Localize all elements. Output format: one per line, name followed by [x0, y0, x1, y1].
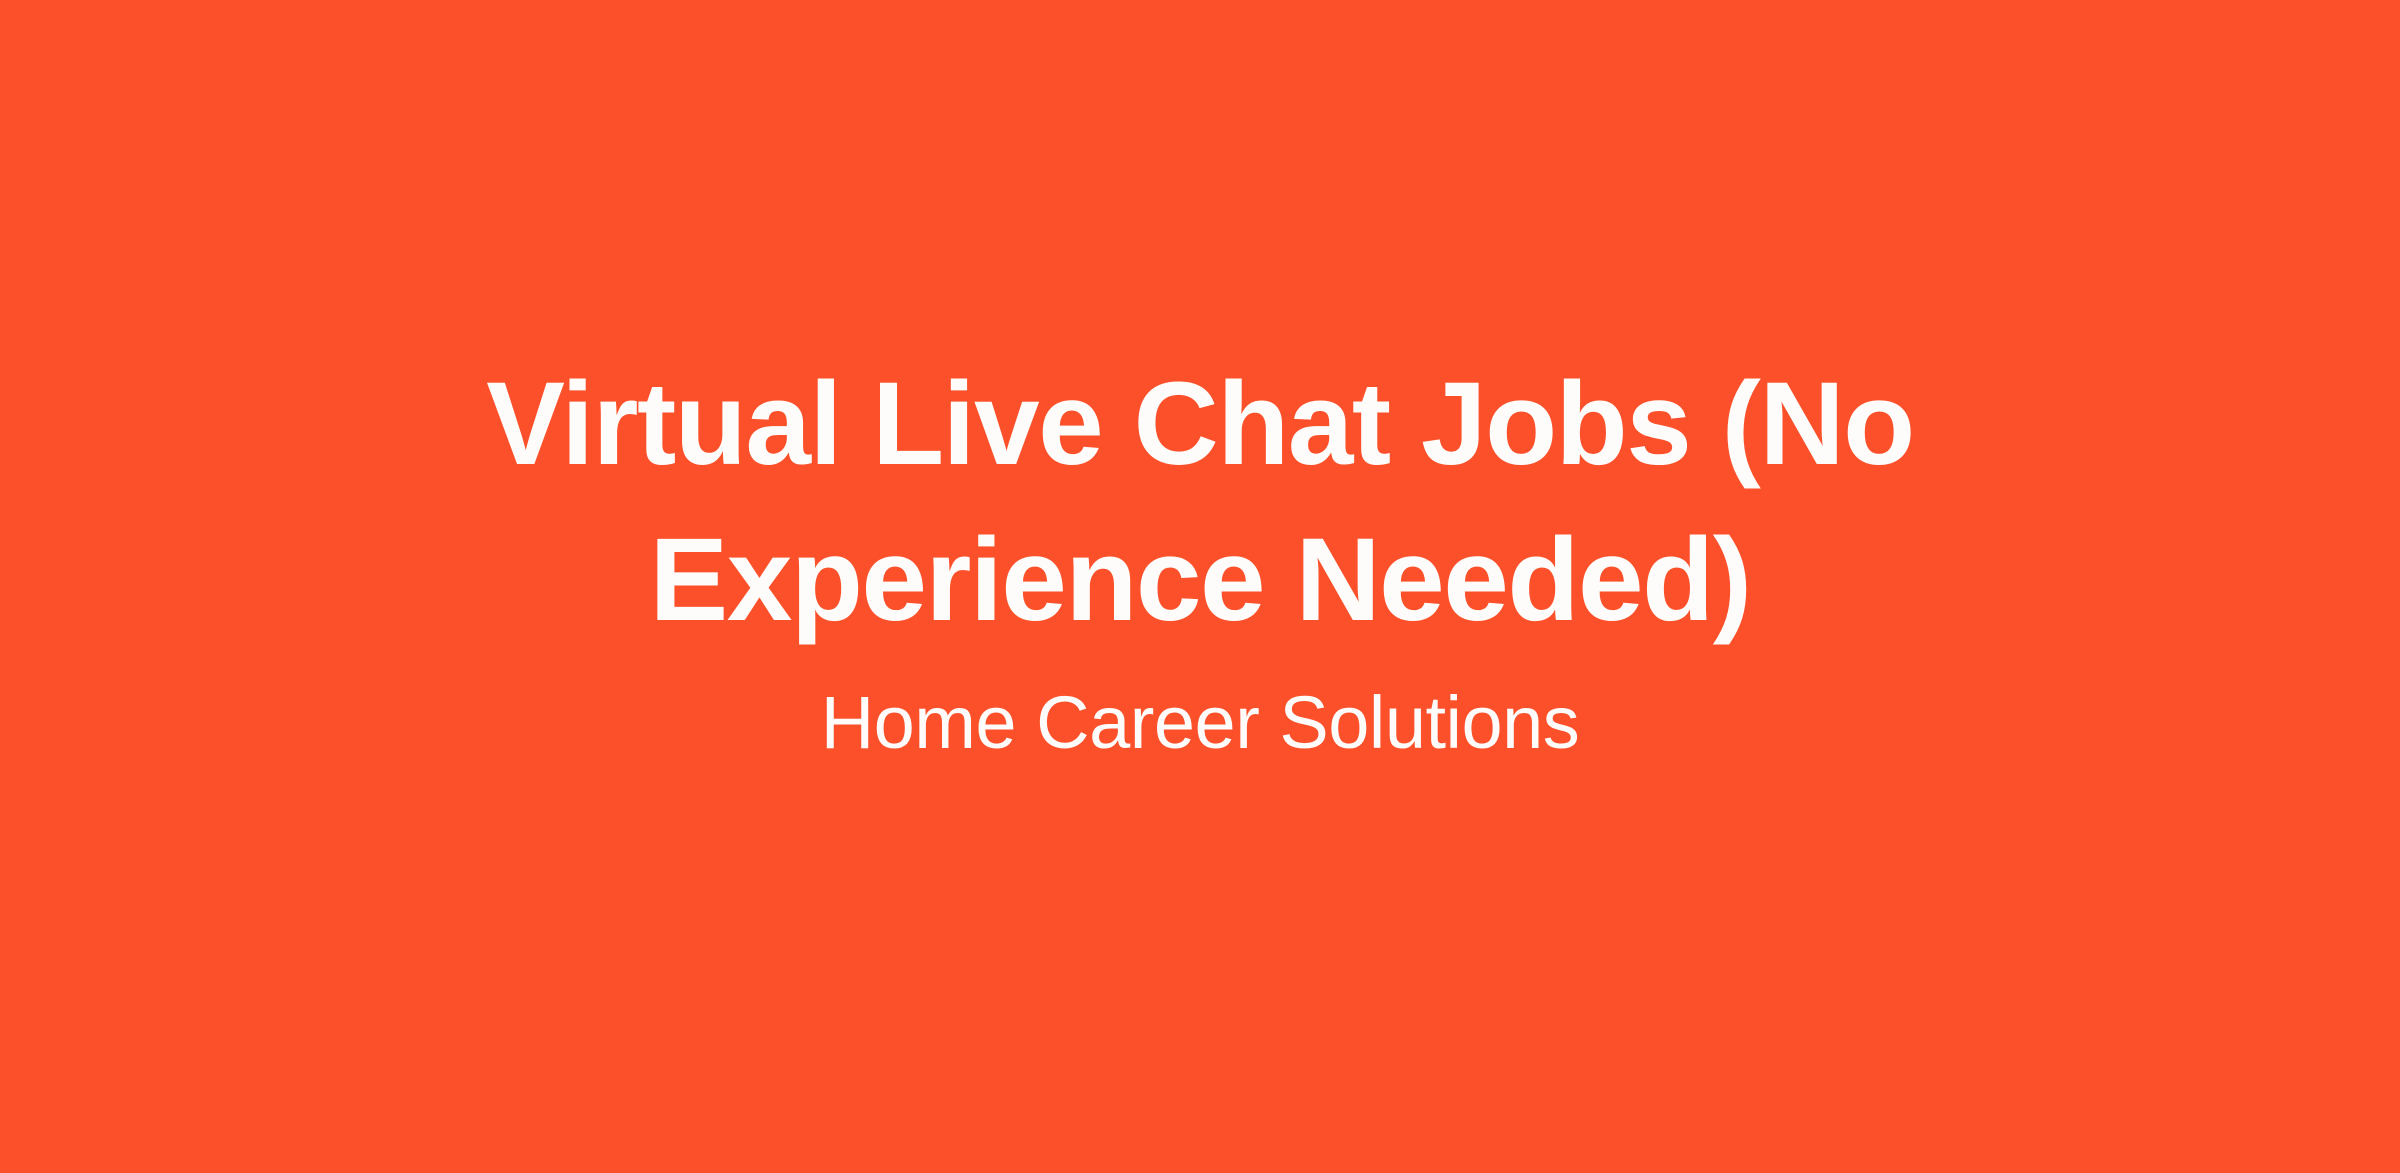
hero-text-block: Virtual Live Chat Jobs (No Experience Ne… — [380, 347, 2020, 767]
page-title: Virtual Live Chat Jobs (No Experience Ne… — [380, 347, 2020, 659]
hero-banner: Virtual Live Chat Jobs (No Experience Ne… — [0, 0, 2400, 1173]
page-subtitle: Home Career Solutions — [380, 679, 2020, 768]
